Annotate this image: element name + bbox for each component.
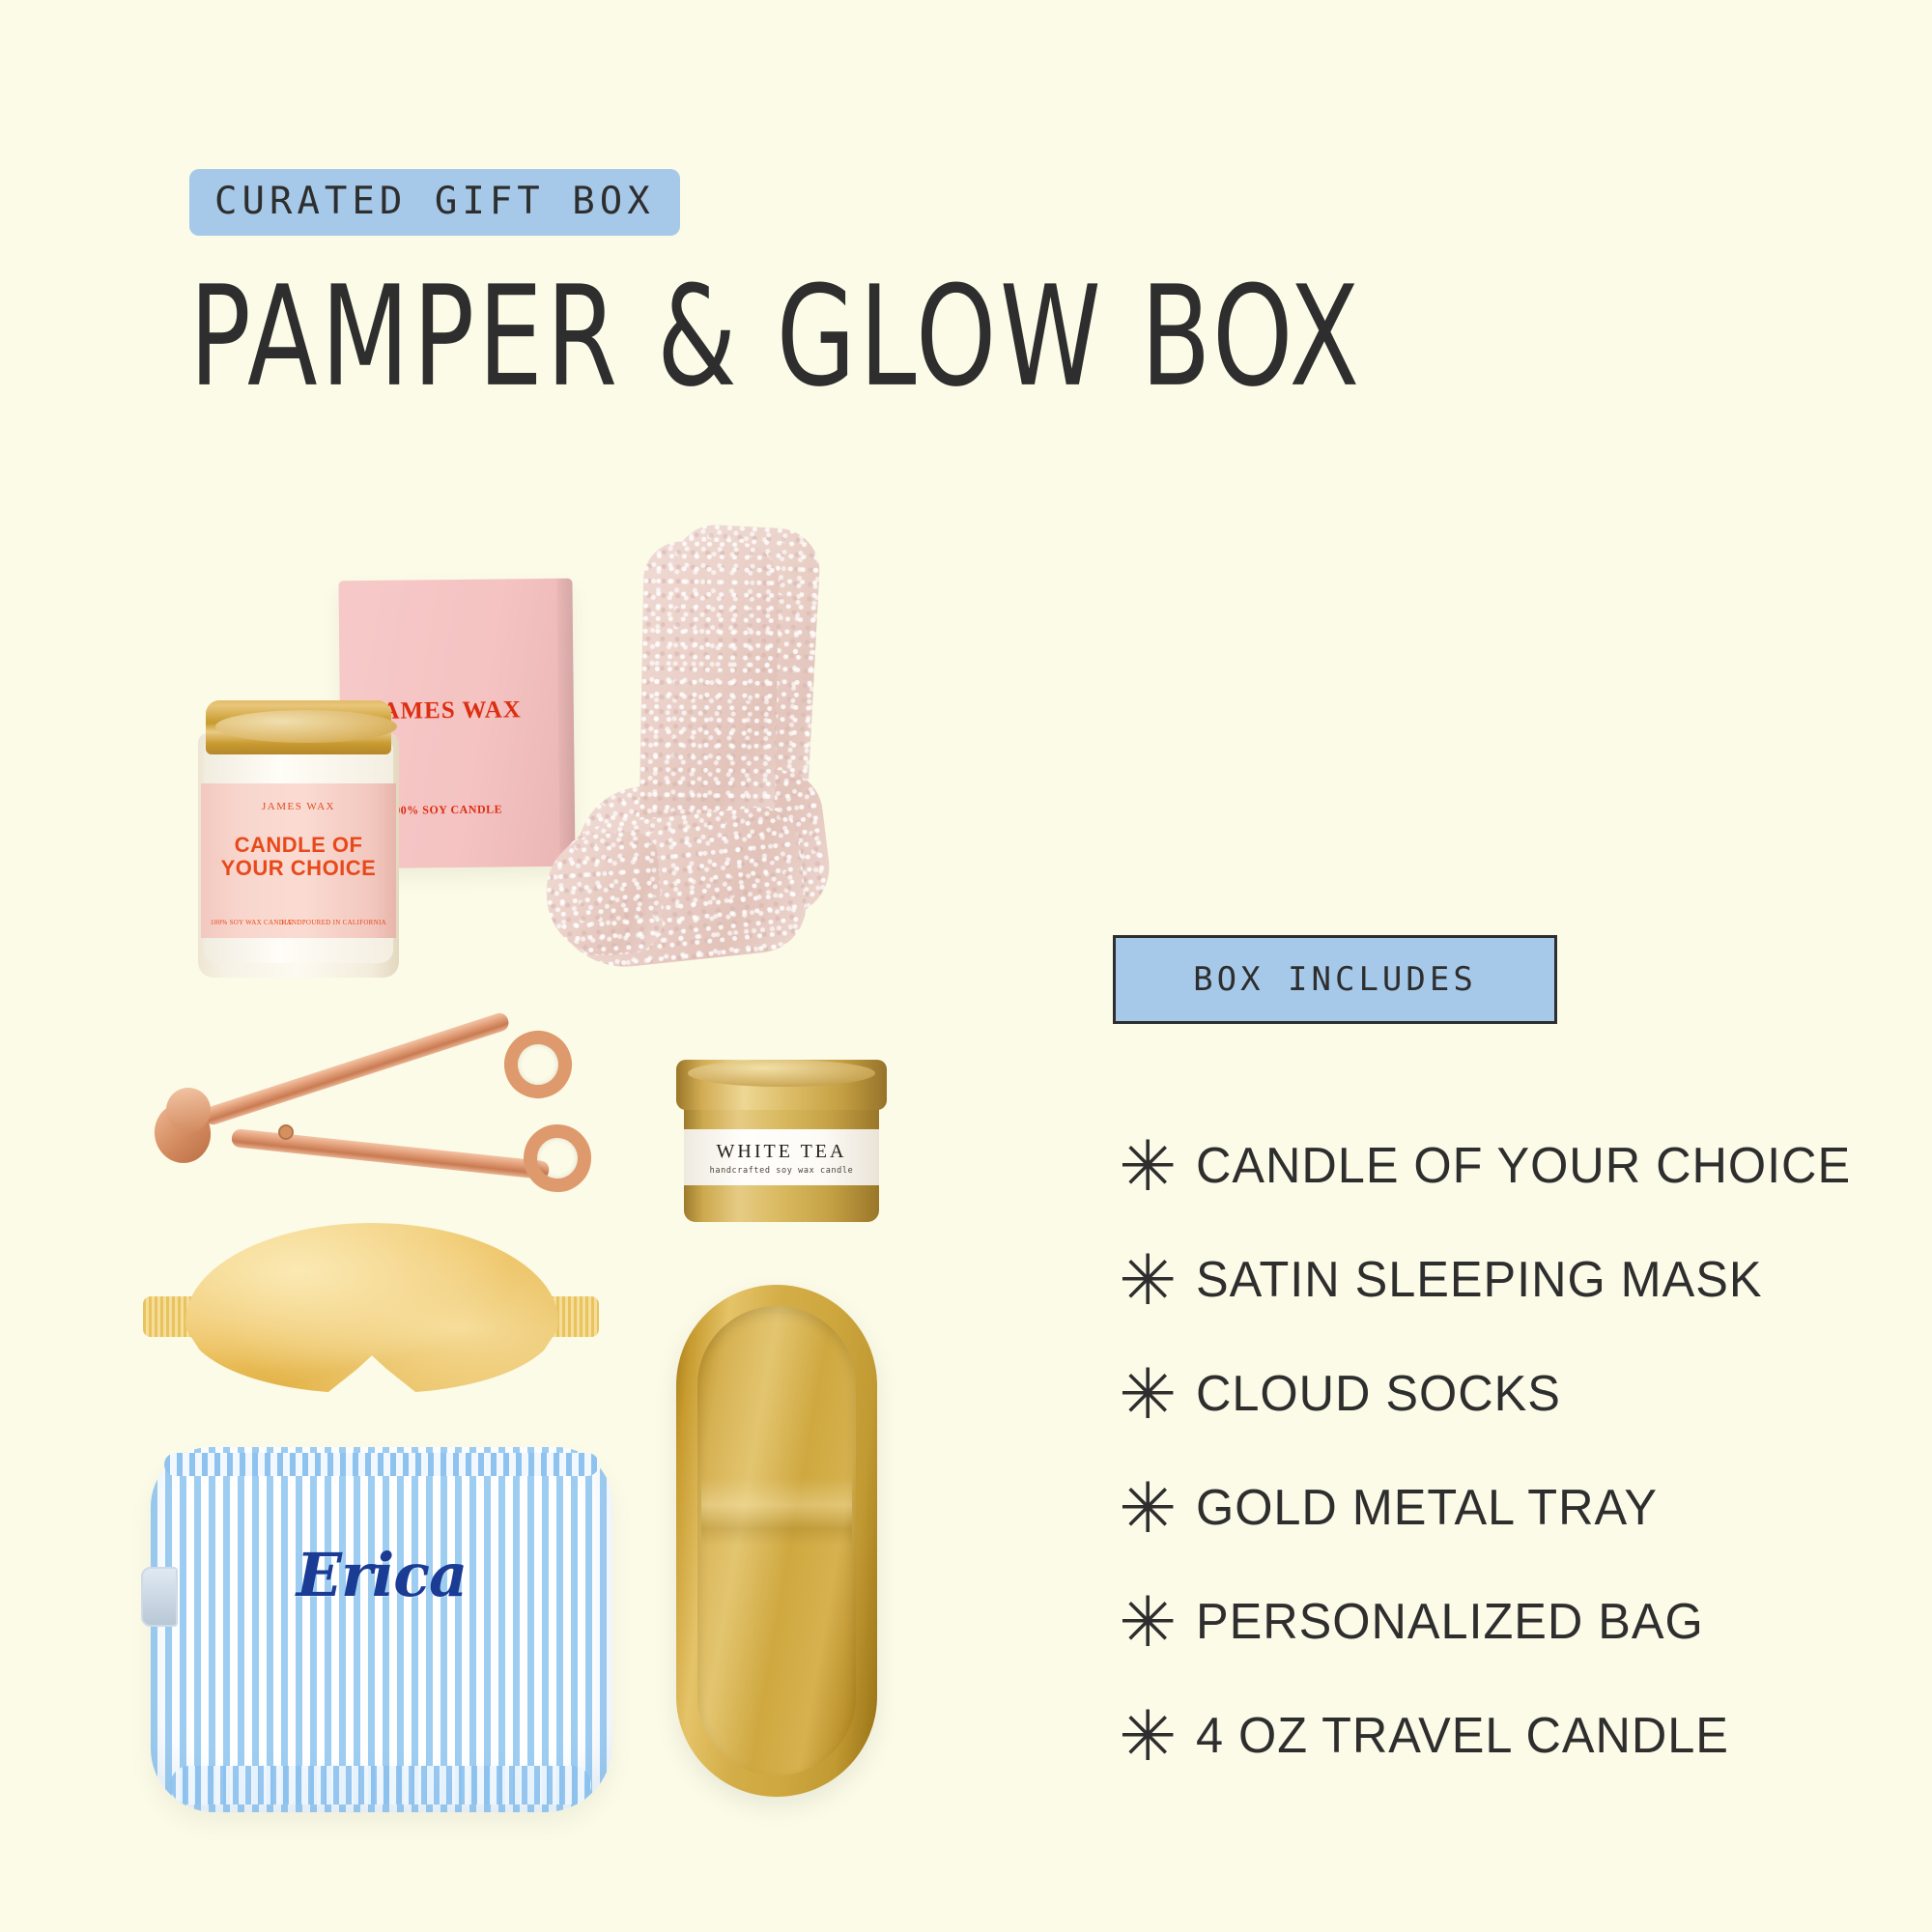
box-includes-panel: BOX INCLUDES ✳ CANDLE OF YOUR CHOICE ✳ S… — [1113, 935, 1886, 1793]
asterisk-bullet-icon: ✳ — [1113, 1142, 1196, 1190]
satin-sleeping-mask-image — [143, 1215, 599, 1401]
cloud-socks-image — [541, 526, 879, 1053]
asterisk-bullet-icon: ✳ — [1113, 1712, 1196, 1760]
list-item: ✳ 4 OZ TRAVEL CANDLE — [1113, 1679, 1886, 1793]
list-item: ✳ CANDLE OF YOUR CHOICE — [1113, 1109, 1886, 1223]
gold-metal-tray-image — [676, 1285, 877, 1797]
list-item: ✳ PERSONALIZED BAG — [1113, 1565, 1886, 1679]
jar-footnote-right: HANDPOURED IN CALIFORNIA — [281, 919, 386, 926]
tin-lid — [676, 1060, 887, 1110]
jar-title-line-1: CANDLE OF — [235, 833, 363, 857]
jar-label: JAMES WAX CANDLE OF YOUR CHOICE 100% SOY… — [201, 783, 396, 938]
jar-title-line-2: YOUR CHOICE — [221, 856, 377, 880]
trimmer-pivot-screw — [278, 1124, 294, 1140]
trimmer-ring-lower — [519, 1120, 595, 1196]
jar-gold-lid — [206, 700, 391, 754]
list-item-label: CANDLE OF YOUR CHOICE — [1196, 1137, 1851, 1195]
sock-toe — [543, 830, 666, 959]
jar-title-label: CANDLE OF YOUR CHOICE — [201, 834, 396, 880]
list-item-label: PERSONALIZED BAG — [1196, 1593, 1704, 1651]
jar-lid-top — [215, 710, 397, 743]
tin-lid-top — [688, 1060, 875, 1087]
bag-embroidered-name: Erica — [145, 1540, 618, 1610]
mask-body — [185, 1223, 558, 1393]
asterisk-bullet-icon: ✳ — [1113, 1370, 1196, 1418]
asterisk-bullet-icon: ✳ — [1113, 1598, 1196, 1646]
tin-descriptor-label: handcrafted soy wax candle — [684, 1166, 879, 1176]
box-includes-list: ✳ CANDLE OF YOUR CHOICE ✳ SATIN SLEEPING… — [1113, 1109, 1886, 1793]
asterisk-bullet-icon: ✳ — [1113, 1484, 1196, 1532]
list-item: ✳ SATIN SLEEPING MASK — [1113, 1223, 1886, 1337]
personalized-bag-image: Erica — [145, 1439, 618, 1826]
tray-sheen-highlight — [701, 1478, 852, 1546]
tin-label: WHITE TEA handcrafted soy wax candle — [684, 1129, 879, 1185]
wick-trimmer-image — [145, 1024, 589, 1217]
box-includes-heading: BOX INCLUDES — [1113, 935, 1557, 1024]
candle-jar-image: JAMES WAX CANDLE OF YOUR CHOICE 100% SOY… — [198, 683, 399, 978]
asterisk-bullet-icon: ✳ — [1113, 1256, 1196, 1304]
tin-scent-label: WHITE TEA — [684, 1141, 879, 1163]
trimmer-arm-upper — [202, 1010, 511, 1126]
list-item-label: 4 OZ TRAVEL CANDLE — [1196, 1707, 1729, 1765]
list-item: ✳ GOLD METAL TRAY — [1113, 1451, 1886, 1565]
trimmer-ring-upper — [496, 1022, 581, 1107]
jar-brand-label: JAMES WAX — [201, 801, 396, 812]
product-collage: JAMES WAX 100% SOY CANDLE JAMES WAX CAND… — [0, 0, 1063, 1932]
list-item: ✳ CLOUD SOCKS — [1113, 1337, 1886, 1451]
bag-body — [151, 1447, 612, 1812]
bag-piping-top — [164, 1453, 599, 1476]
list-item-label: GOLD METAL TRAY — [1196, 1479, 1658, 1537]
bag-piping-bottom — [170, 1766, 591, 1804]
list-item-label: CLOUD SOCKS — [1196, 1365, 1561, 1423]
travel-candle-tin-image: WHITE TEA handcrafted soy wax candle — [676, 1056, 887, 1225]
sock-front-leg — [639, 541, 780, 850]
list-item-label: SATIN SLEEPING MASK — [1196, 1251, 1763, 1309]
